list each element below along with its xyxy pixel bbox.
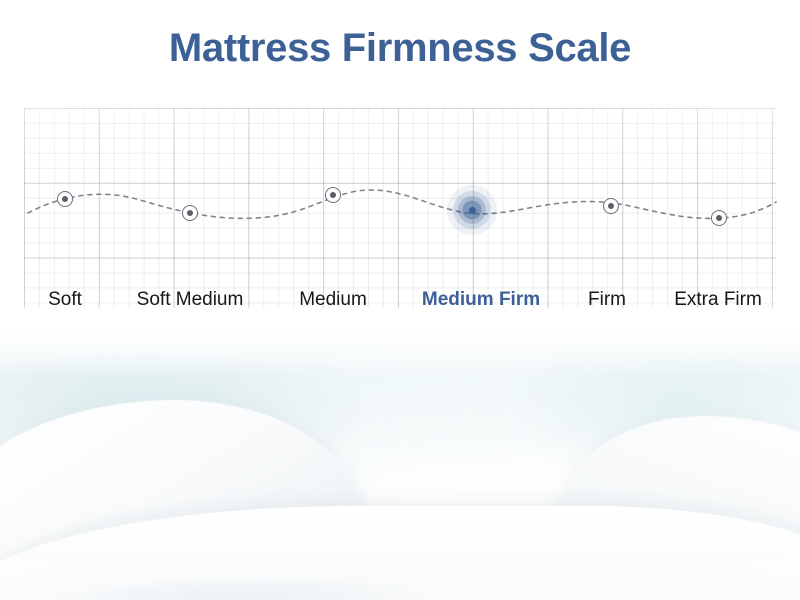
firmness-label-soft-medium[interactable]: Soft Medium xyxy=(137,288,244,312)
firmness-label-firm[interactable]: Firm xyxy=(588,288,626,312)
sleeping-woman-photo xyxy=(0,330,800,600)
firmness-labels: SoftSoft MediumMediumMedium FirmFirmExtr… xyxy=(0,288,800,316)
firmness-label-extra-firm[interactable]: Extra Firm xyxy=(674,288,762,312)
firmness-marker-medium-firm[interactable] xyxy=(469,207,476,214)
firmness-marker-soft-medium[interactable] xyxy=(182,205,198,221)
firmness-marker-medium[interactable] xyxy=(325,187,341,203)
firmness-marker-firm[interactable] xyxy=(603,198,619,214)
photo-vignette xyxy=(0,330,800,600)
firmness-marker-soft[interactable] xyxy=(57,191,73,207)
mattress-firmness-infographic: Mattress Firmness Scale SoftSoft MediumM… xyxy=(0,0,800,600)
firmness-wave-line xyxy=(0,108,800,308)
firmness-marker-extra-firm[interactable] xyxy=(711,210,727,226)
page-title: Mattress Firmness Scale xyxy=(0,24,800,72)
firmness-label-medium[interactable]: Medium xyxy=(299,288,367,312)
firmness-label-medium-firm[interactable]: Medium Firm xyxy=(422,288,540,312)
firmness-label-soft[interactable]: Soft xyxy=(48,288,82,312)
